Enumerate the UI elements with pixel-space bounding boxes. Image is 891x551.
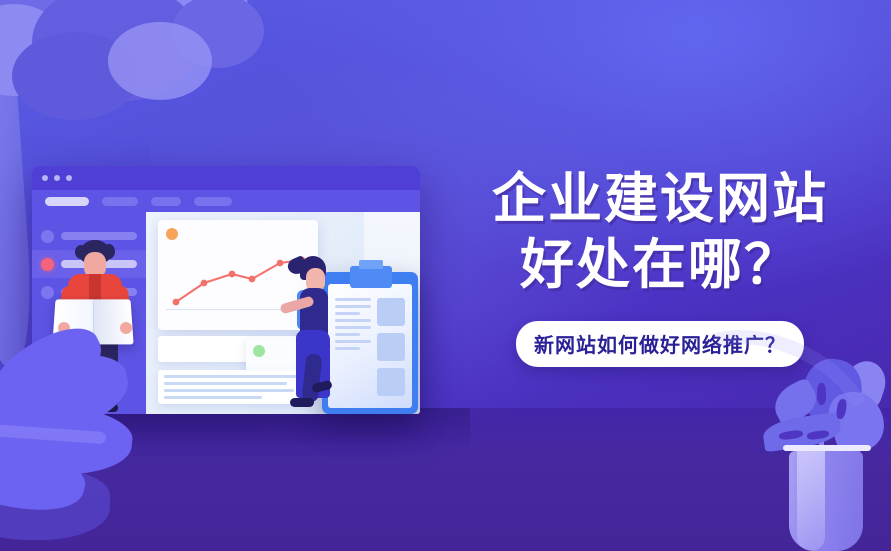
foliage-blob: [108, 22, 212, 100]
clipboard-box: [377, 298, 405, 326]
window-dot-icon: [66, 175, 72, 181]
character-woman-leaning: [282, 256, 348, 414]
text-bar: [61, 232, 137, 240]
browser-navbar: [32, 190, 420, 212]
clipboard-clip-icon: [350, 266, 392, 288]
avatar-circle-green-icon: [253, 345, 265, 357]
clipboard-box: [377, 368, 405, 396]
window-dot-icon: [42, 175, 48, 181]
clipboard-box: [377, 333, 405, 361]
window-dot-icon: [54, 175, 60, 181]
tree-trunk: [0, 66, 36, 369]
browser-titlebar: [32, 166, 420, 190]
nav-pill: [102, 197, 138, 206]
leaf-bottom-left: [0, 352, 195, 551]
nav-pill: [151, 197, 181, 206]
window-controls: [42, 175, 72, 181]
hand-right: [120, 322, 132, 334]
hero-text-block: 企业建设网站 好处在哪？ 新网站如何做好网络推广？: [460, 168, 860, 367]
promo-banner: 企业建设网站 好处在哪？ 新网站如何做好网络推广？: [0, 0, 891, 551]
torso: [300, 288, 328, 336]
clipboard-checkbox-group: [377, 296, 405, 400]
headline-line-1: 企业建设网站: [460, 168, 860, 232]
chart-card-header: [166, 228, 310, 240]
shoe-left: [290, 398, 314, 407]
avatar-circle-orange-icon: [166, 228, 178, 240]
headline-line-2: 好处在哪？: [460, 234, 860, 298]
nav-pill-active: [45, 197, 89, 206]
nav-pill: [194, 197, 232, 206]
